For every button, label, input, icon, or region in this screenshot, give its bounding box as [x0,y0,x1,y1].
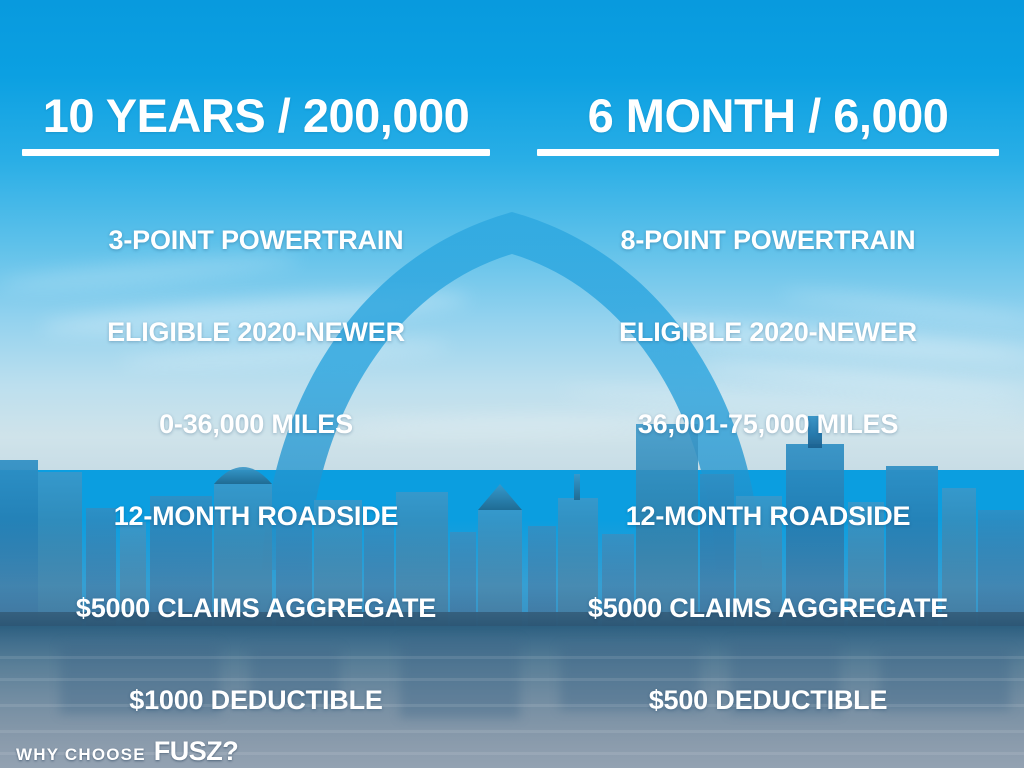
column-heading: 10 YEARS / 200,000 [43,92,469,139]
plan-column-10-years: 10 YEARS / 200,000 3-POINT POWERTRAIN EL… [0,0,512,710]
brand-logo: WHY CHOOSE FUSZ? [16,736,238,767]
column-heading: 6 MONTH / 6,000 [588,92,949,139]
logo-prefix-text: WHY CHOOSE [16,745,146,765]
benefit-item: 12-MONTH ROADSIDE [114,470,399,562]
benefit-list: 8-POINT POWERTRAIN ELIGIBLE 2020-NEWER 3… [512,194,1024,746]
benefit-item: 8-POINT POWERTRAIN [621,194,916,286]
logo-brand-text: FUSZ? [154,736,239,767]
benefit-item: $500 DEDUCTIBLE [649,654,888,746]
column-header: 6 MONTH / 6,000 [512,92,1024,156]
slide-canvas: 10 YEARS / 200,000 3-POINT POWERTRAIN EL… [0,0,1024,768]
heading-underline [22,149,490,156]
benefit-item: 3-POINT POWERTRAIN [109,194,404,286]
benefit-list: 3-POINT POWERTRAIN ELIGIBLE 2020-NEWER 0… [0,194,512,746]
benefit-item: $5000 CLAIMS AGGREGATE [588,562,948,654]
benefit-item: ELIGIBLE 2020-NEWER [619,286,917,378]
benefit-item: 0-36,000 MILES [159,378,353,470]
benefit-item: $1000 DEDUCTIBLE [129,654,382,746]
heading-underline [537,149,999,156]
comparison-columns: 10 YEARS / 200,000 3-POINT POWERTRAIN EL… [0,0,1024,710]
column-header: 10 YEARS / 200,000 [0,92,512,156]
benefit-item: 36,001-75,000 MILES [638,378,898,470]
slide-content: 10 YEARS / 200,000 3-POINT POWERTRAIN EL… [0,0,1024,768]
benefit-item: 12-MONTH ROADSIDE [626,470,911,562]
benefit-item: ELIGIBLE 2020-NEWER [107,286,405,378]
benefit-item: $5000 CLAIMS AGGREGATE [76,562,436,654]
plan-column-6-month: 6 MONTH / 6,000 8-POINT POWERTRAIN ELIGI… [512,0,1024,710]
